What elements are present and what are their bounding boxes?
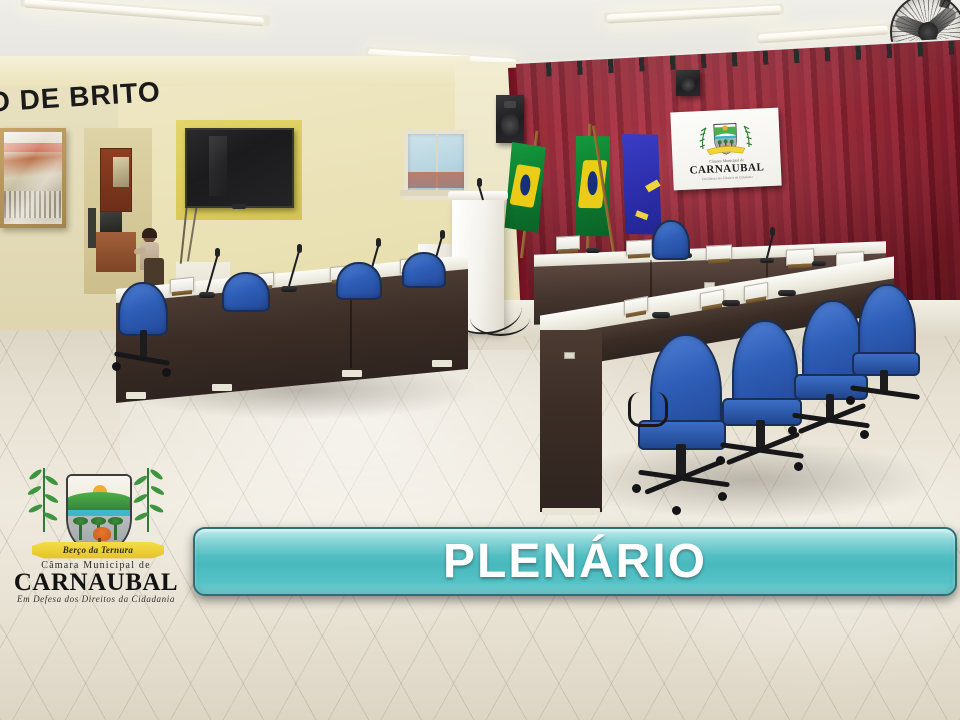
glass-glare [4, 132, 62, 224]
framed-photograph-image [4, 132, 62, 224]
wall-mounted-tv [185, 128, 294, 208]
floor-cable-secondary [470, 300, 530, 336]
desk-foot [126, 392, 146, 399]
chair-backrest [222, 272, 270, 312]
leaf-stem [147, 468, 149, 532]
desk-foot [342, 370, 362, 377]
chair-caster [162, 368, 171, 377]
mic-capsule [297, 244, 302, 253]
speaker-tweeter [504, 101, 516, 108]
window-lower-view [408, 172, 464, 188]
speaker-cone [501, 113, 519, 137]
logo-motto: Berço da Ternura [63, 545, 133, 555]
nameplate [744, 282, 768, 301]
mic-capsule [376, 238, 381, 247]
computer-monitor [100, 212, 122, 232]
mic-base [586, 248, 600, 253]
desk-foot [432, 360, 452, 367]
logo-ribbon: Berço da Ternura [32, 540, 164, 560]
mic-base [722, 300, 740, 306]
chair-backrest [652, 220, 690, 260]
desk-foot [542, 508, 600, 515]
leaf-blade [27, 485, 42, 497]
mic-base [812, 261, 826, 266]
member-chair [336, 262, 382, 300]
chair-caster [632, 484, 641, 493]
chair-caster [846, 396, 855, 405]
chair-caster [794, 462, 803, 471]
plaque-name: CARNAUBAL [689, 161, 764, 176]
chair-backrest [336, 262, 382, 300]
leaf-blade [28, 468, 43, 481]
chair-caster [716, 456, 725, 465]
lectern-top [448, 191, 508, 200]
mic-base [652, 312, 670, 318]
flag-yellow-bar [645, 180, 661, 193]
nameplate [700, 289, 724, 308]
mic-capsule [770, 227, 775, 236]
nameplate [706, 244, 732, 260]
flag-globe [587, 171, 597, 195]
chair-armrest [628, 392, 668, 427]
shield-palm-icon [79, 522, 82, 540]
member-chair [846, 284, 924, 414]
photo-canvas: O DE BRITO [0, 0, 960, 720]
office-cabinet [100, 148, 132, 212]
logo-line-2: CARNAUBAL [8, 569, 184, 597]
member-chair [118, 282, 170, 392]
nameplate [626, 239, 652, 255]
desk-foot [212, 384, 232, 391]
cabinet-glass-door [113, 157, 129, 187]
desk-label-tag [564, 352, 575, 359]
leaf-blade [150, 485, 165, 497]
speaker-cone [681, 78, 695, 92]
leaf-blade [149, 468, 164, 481]
presiding-chair [650, 220, 688, 260]
leaf-blade [28, 503, 44, 514]
wall-plaque-carnaubal: Câmara Municipal de CARNAUBAL Em Defesa … [670, 108, 781, 191]
mic-capsule [440, 230, 445, 239]
mic-base [778, 290, 796, 296]
mic-capsule [477, 178, 482, 187]
member-chair [402, 252, 446, 288]
logo-line-3: Em Defesa dos Direitos da Cidadania [8, 594, 184, 604]
mic-base [281, 286, 297, 292]
mic-capsule [215, 248, 220, 257]
nameplate [786, 248, 814, 265]
plaque-contents: Câmara Municipal de CARNAUBAL Em Defesa … [674, 112, 777, 186]
leaf-blade [149, 503, 165, 514]
person-hair [142, 228, 157, 238]
plaque-footer: Em Defesa dos Direitos da Cidadania [702, 175, 753, 181]
nameplate [556, 235, 580, 250]
tv-screen-glare [209, 136, 227, 196]
chair-caster [860, 430, 869, 439]
shield-fruit-tree-icon [93, 527, 111, 541]
leaf-blade [43, 511, 59, 522]
leaf-blade [44, 474, 59, 487]
chair-gas-lift [140, 330, 147, 358]
mic-base [760, 258, 774, 263]
sugarcane-leaf-right-icon [132, 468, 166, 532]
chair-backrest [118, 282, 168, 336]
mic-base [199, 292, 215, 298]
member-chair [222, 272, 270, 312]
leaf-blade [44, 493, 59, 505]
computer-tower [88, 208, 96, 248]
sugarcane-leaf-left-icon [26, 468, 60, 532]
leaf-blade [133, 474, 148, 487]
pa-speaker-right [676, 70, 700, 96]
caption-banner-text: PLENÁRIO [443, 534, 707, 589]
office-desk [96, 232, 136, 272]
chair-caster [112, 362, 121, 371]
leaf-blade [133, 493, 148, 505]
chair-caster [672, 506, 681, 515]
carnaubal-council-logo: Berço da Ternura Câmara Municipal de CAR… [8, 468, 184, 612]
nameplate [170, 277, 194, 294]
chair-caster [788, 426, 797, 435]
pa-speaker-left [496, 95, 524, 143]
chair-backrest [402, 252, 446, 288]
chair-caster [718, 492, 727, 501]
shield-palm-icon [114, 522, 117, 540]
coat-of-arms-shield-icon [66, 474, 132, 552]
nameplate [624, 296, 648, 315]
flag-yellow-bar [635, 210, 648, 220]
framed-photograph [0, 128, 66, 228]
coat-of-arms-icon [692, 117, 760, 160]
tv-bracket [232, 204, 246, 209]
caption-banner: PLENÁRIO [193, 527, 957, 596]
